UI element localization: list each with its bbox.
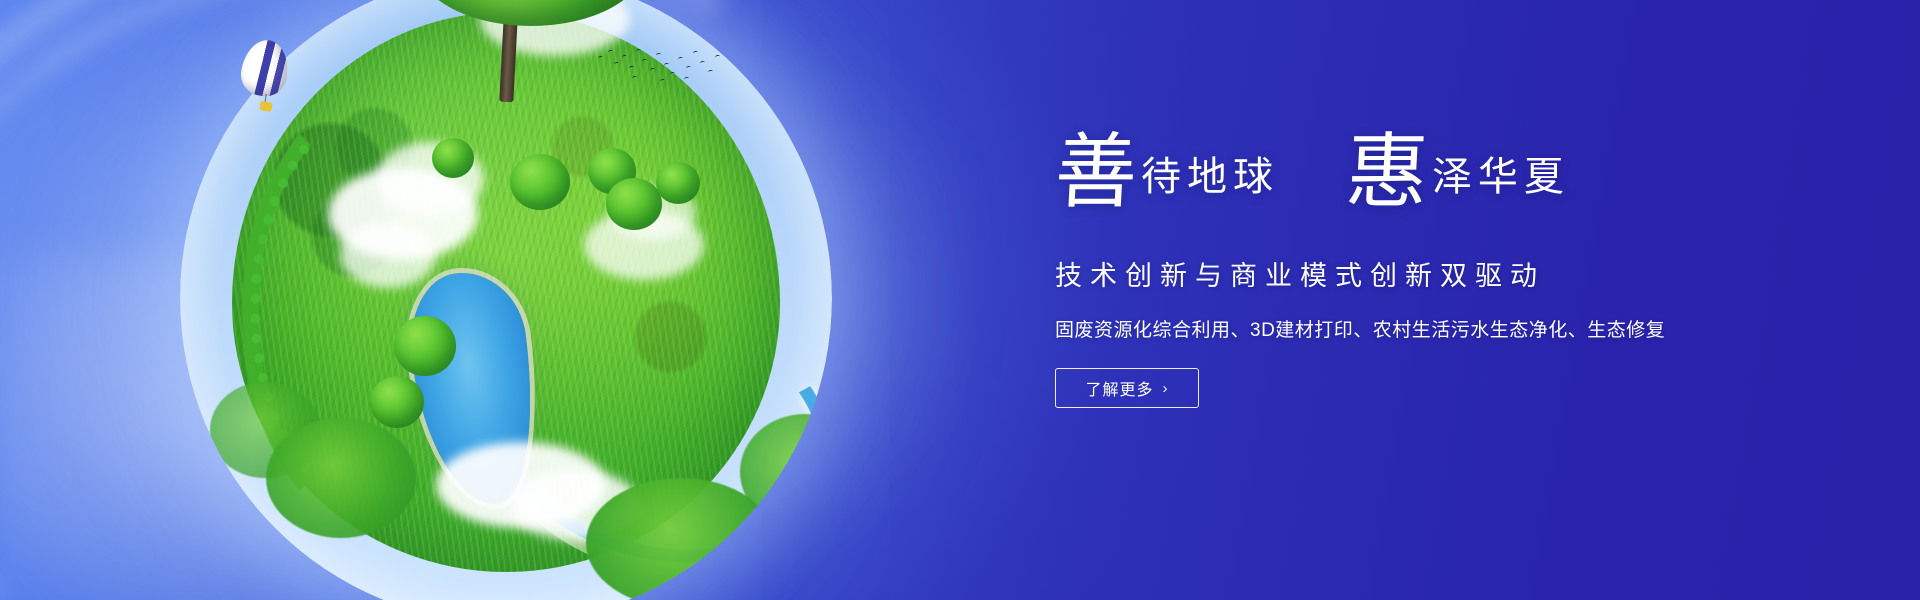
headline-big-char-2: 惠	[1344, 132, 1430, 214]
learn-more-label: 了解更多	[1085, 376, 1153, 400]
hero-content: 善待地球 惠泽华夏 技术创新与商业模式创新双驱动 固废资源化综合利用、3D建材打…	[1055, 132, 1755, 408]
tree-bush-4	[656, 162, 700, 204]
hot-air-balloon-icon	[242, 40, 288, 118]
bottom-tree-1	[266, 418, 416, 538]
headline-big-char-1: 善	[1053, 132, 1139, 214]
headline-small-chars-2: 泽华夏	[1432, 157, 1570, 197]
learn-more-button[interactable]: 了解更多 ›	[1055, 368, 1199, 408]
page-subtitle: 技术创新与商业模式创新双驱动	[1055, 254, 1755, 293]
headline-group-2: 惠泽华夏	[1346, 132, 1570, 214]
tree-bush-3	[606, 178, 662, 230]
balloon-basket	[259, 101, 272, 112]
tree-bush-5	[394, 316, 456, 376]
hero-banner: 善待地球 惠泽华夏 技术创新与商业模式创新双驱动 固废资源化综合利用、3D建材打…	[0, 0, 1920, 600]
headline-group-1: 善待地球	[1055, 132, 1279, 214]
balloon-envelope	[238, 37, 292, 100]
planet-cloud-3	[340, 222, 436, 288]
tree-bush-1	[510, 154, 570, 210]
tree-bush-7	[432, 138, 474, 178]
page-title: 善待地球 惠泽华夏	[1055, 132, 1755, 236]
chevron-right-icon: ›	[1163, 381, 1169, 396]
headline-small-chars-1: 待地球	[1141, 157, 1279, 197]
page-description: 固废资源化综合利用、3D建材打印、农村生活污水生态净化、生态修复	[1055, 315, 1755, 342]
bird-flock-icon	[596, 46, 726, 90]
tree-bush-6	[370, 376, 424, 428]
